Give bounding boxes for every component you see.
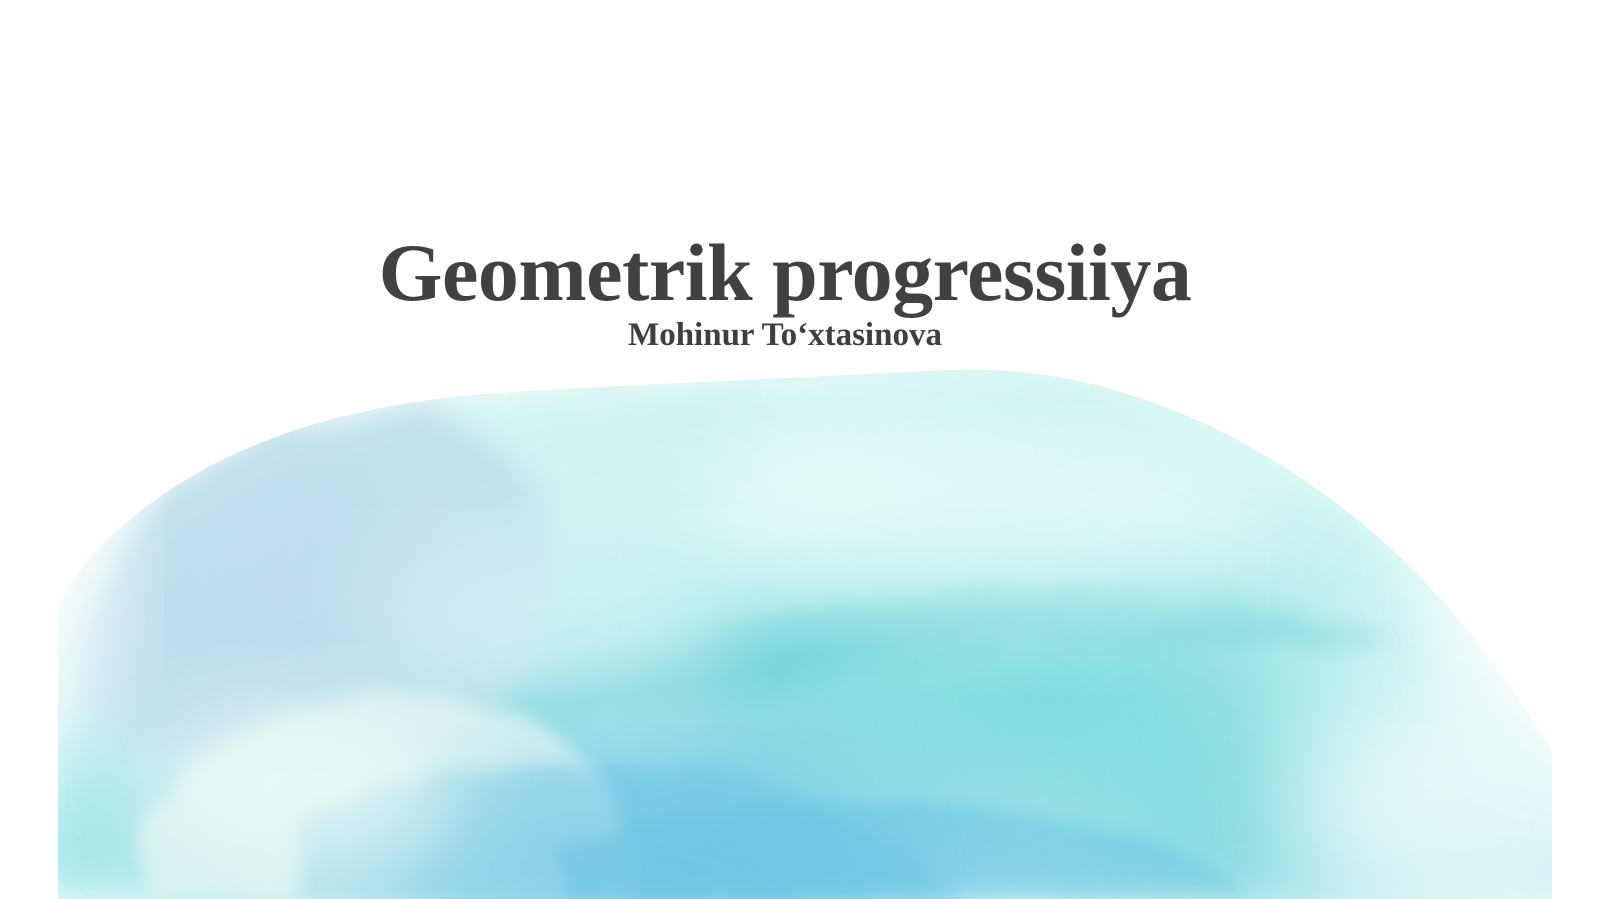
author-subtitle: Mohinur To‘xtasinova: [0, 318, 1570, 353]
title-block: Geometrik progressiiya Mohinur To‘xtasin…: [0, 232, 1570, 353]
wash-edge-fade: [0, 330, 1600, 899]
wash-body: [10, 320, 1600, 899]
watercolor-wash-decoration: [0, 0, 1600, 899]
page-title: Geometrik progressiiya: [0, 232, 1570, 314]
presentation-slide: Geometrik progressiiya Mohinur To‘xtasin…: [0, 0, 1600, 899]
